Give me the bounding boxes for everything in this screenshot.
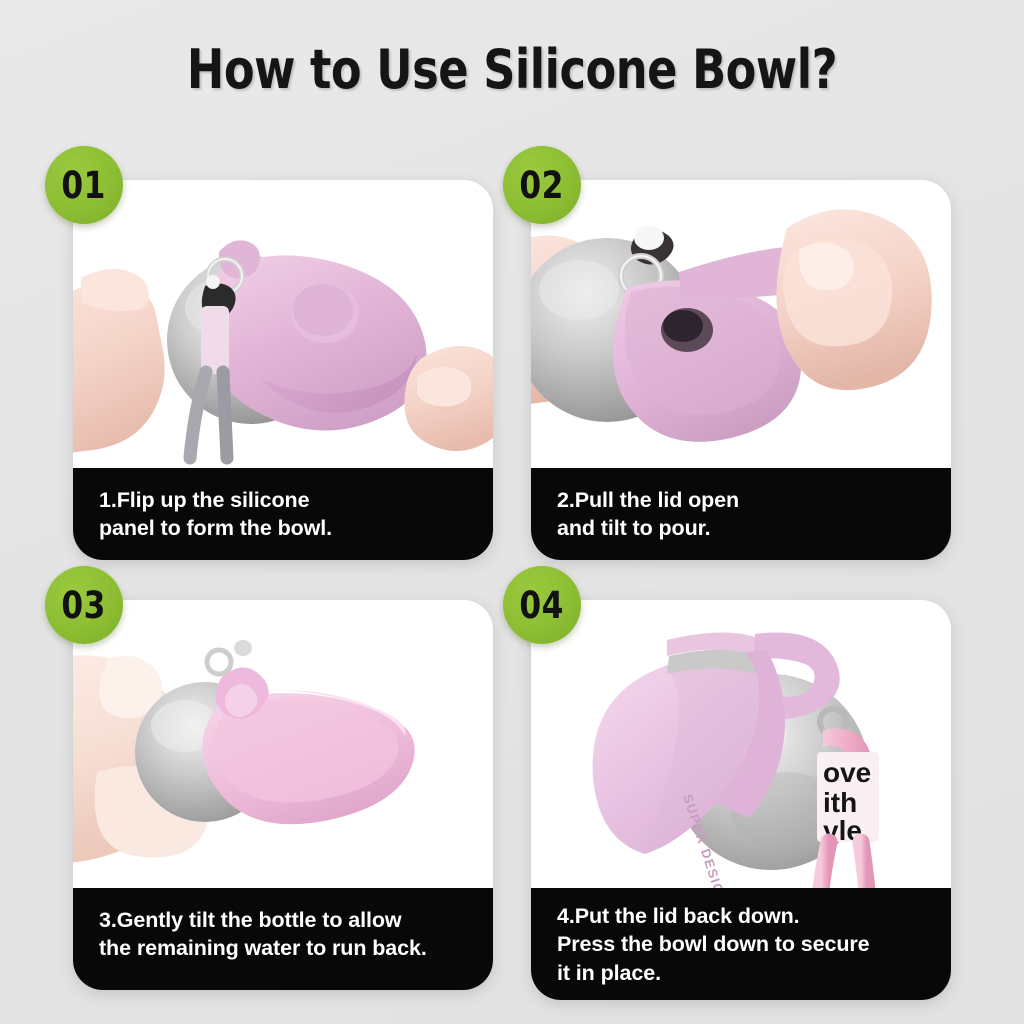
- step-card-2: 02: [531, 180, 951, 560]
- step-2-illustration: [531, 180, 951, 468]
- svg-text:ith: ith: [823, 787, 857, 818]
- step-caption-1: 1.Flip up the silicone panel to form the…: [73, 468, 493, 560]
- step-badge-3-number: 03: [62, 584, 106, 627]
- step-card-4: 04: [531, 600, 951, 1000]
- step-card-1: 01: [73, 180, 493, 560]
- step-badge-2-number: 02: [520, 164, 564, 207]
- step-photo-2: [531, 180, 951, 468]
- step-badge-3: 03: [45, 566, 123, 644]
- step-caption-3-line-2: the remaining water to run back.: [99, 934, 471, 962]
- step-photo-1: [73, 180, 493, 468]
- step-badge-1: 01: [45, 146, 123, 224]
- step-3-illustration: [73, 600, 493, 888]
- step-caption-2-line-1: 2.Pull the lid open: [557, 486, 929, 514]
- step-badge-4: 04: [503, 566, 581, 644]
- step-caption-4-line-3: it in place.: [557, 959, 929, 987]
- page-title: How to Use Silicone Bowl?: [41, 38, 983, 101]
- step-card-3: 03: [73, 600, 493, 990]
- step-caption-4-line-1: 4.Put the lid back down.: [557, 902, 929, 930]
- step-badge-1-number: 01: [62, 164, 106, 207]
- step-1-illustration: [73, 180, 493, 468]
- step-photo-3: [73, 600, 493, 888]
- svg-text:ove: ove: [823, 757, 871, 788]
- step-4-illustration: ove ith yle SUPER DESIGN: [531, 600, 951, 888]
- infographic-page: How to Use Silicone Bowl? 01: [0, 0, 1024, 1024]
- step-badge-4-number: 04: [520, 584, 564, 627]
- step-caption-4: 4.Put the lid back down. Press the bowl …: [531, 888, 951, 1000]
- step-caption-3: 3.Gently tilt the bottle to allow the re…: [73, 888, 493, 990]
- step-caption-2: 2.Pull the lid open and tilt to pour.: [531, 468, 951, 560]
- step-caption-3-line-1: 3.Gently tilt the bottle to allow: [99, 906, 471, 934]
- step-caption-1-line-1: 1.Flip up the silicone: [99, 486, 471, 514]
- step-badge-2: 02: [503, 146, 581, 224]
- step-photo-4: ove ith yle SUPER DESIGN: [531, 600, 951, 888]
- step-caption-1-line-2: panel to form the bowl.: [99, 514, 471, 542]
- step-caption-4-line-2: Press the bowl down to secure: [557, 930, 929, 958]
- step-caption-2-line-2: and tilt to pour.: [557, 514, 929, 542]
- steps-grid: 01: [28, 138, 996, 1006]
